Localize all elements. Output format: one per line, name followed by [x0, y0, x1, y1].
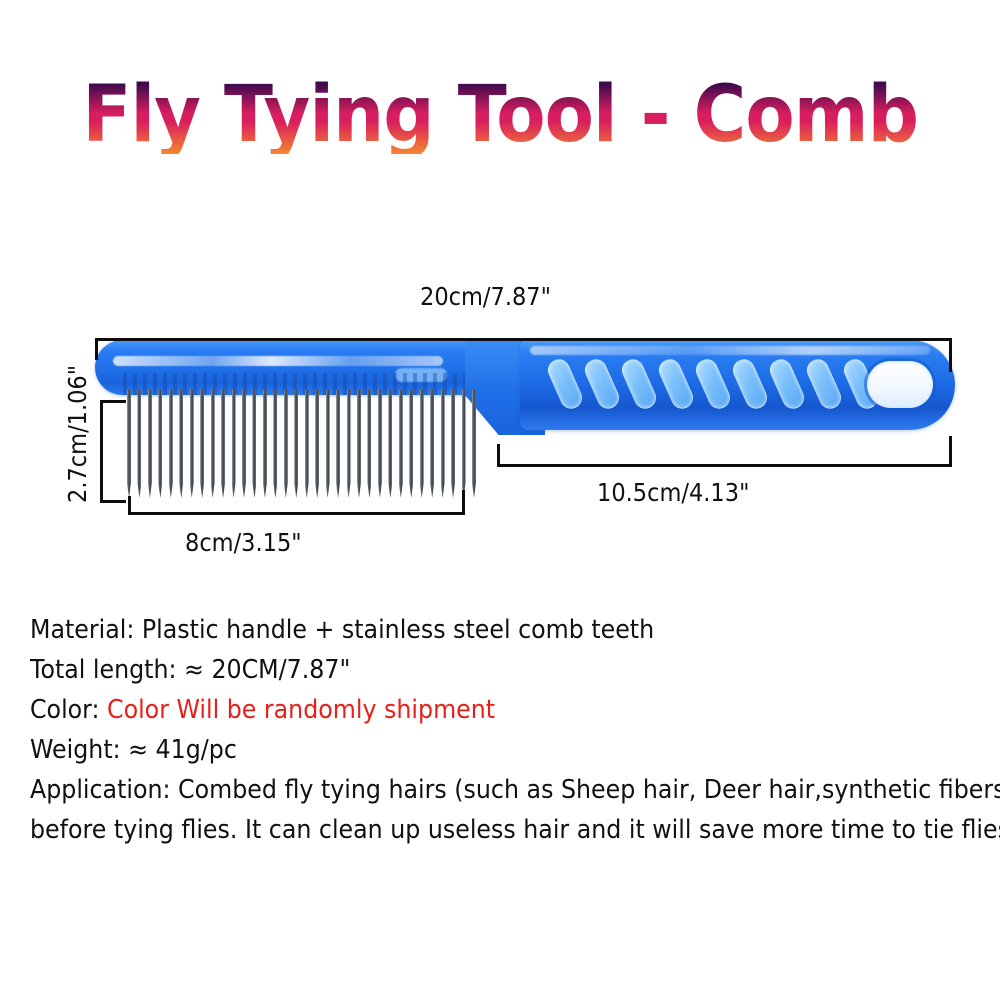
bracket-total-length-tick-right: [949, 338, 952, 372]
comb-tooth: [399, 390, 403, 498]
comb-tooth: [326, 390, 330, 498]
comb-tooth: [127, 390, 131, 498]
comb-handle-slot: [766, 356, 807, 412]
comb-tooth: [357, 390, 361, 498]
comb-tooth: [305, 390, 309, 498]
comb-tooth: [430, 390, 434, 498]
comb-tooth: [347, 390, 351, 498]
comb-head-highlight: [113, 356, 443, 366]
title-banner: Fly Tying Tool - Comb: [0, 60, 1000, 170]
comb-tooth: [441, 390, 445, 498]
page-title: Fly Tying Tool - Comb: [82, 76, 918, 154]
comb-tooth: [158, 390, 162, 498]
bracket-teeth-height: [100, 400, 103, 503]
dimension-label-handle-length: 10.5cm/4.13": [597, 478, 749, 507]
comb-handle-slot: [729, 356, 770, 412]
spec-color-label: Color:: [30, 695, 107, 725]
spec-application-line1: Application: Combed fly tying hairs (suc…: [30, 770, 923, 810]
comb-tooth: [367, 390, 371, 498]
spec-total-length: Total length: ≈ 20CM/7.87": [30, 650, 923, 690]
spec-application-line2: before tying flies. It can clean up usel…: [30, 810, 923, 850]
comb-tooth: [294, 390, 298, 498]
comb-tooth: [315, 390, 319, 498]
specification-list: Material: Plastic handle + stainless ste…: [30, 610, 990, 850]
comb-hanging-hole: [867, 361, 933, 408]
spec-material: Material: Plastic handle + stainless ste…: [30, 610, 923, 650]
product-infographic: Fly Tying Tool - Comb 20cm/7.87" 2.7cm/1…: [0, 0, 1000, 1000]
comb-handle-slot: [692, 356, 733, 412]
dimension-label-teeth-height: 2.7cm/1.06": [63, 365, 92, 503]
comb-handle-slot: [581, 356, 622, 412]
spec-color-value: Color Will be randomly shipment: [107, 695, 495, 725]
bracket-handle-length: [497, 464, 952, 467]
bracket-comb-head-width: [128, 512, 465, 515]
spec-color: Color: Color Will be randomly shipment: [30, 690, 923, 730]
comb-tooth: [336, 390, 340, 498]
comb-handle: [520, 340, 955, 430]
comb-steel-teeth: [95, 390, 495, 510]
bracket-teeth-height-tick-bottom: [100, 500, 126, 503]
bracket-comb-head-width-tick-left: [128, 496, 131, 515]
comb-tooth: [148, 390, 152, 498]
comb-tooth: [388, 390, 392, 498]
comb-tooth: [221, 390, 225, 498]
comb-tooth: [179, 390, 183, 498]
comb-tooth: [263, 390, 267, 498]
comb-tooth: [169, 390, 173, 498]
bracket-total-length: [95, 338, 952, 341]
comb-tooth: [252, 390, 256, 498]
comb-tooth: [451, 390, 455, 498]
comb-tooth: [378, 390, 382, 498]
comb-tooth: [190, 390, 194, 498]
comb-tooth: [200, 390, 204, 498]
comb-tooth: [409, 390, 413, 498]
comb-handle-slot: [544, 356, 585, 412]
bracket-comb-head-width-tick-right: [462, 490, 465, 515]
spec-weight: Weight: ≈ 41g/pc: [30, 730, 923, 770]
comb-head-spine: [95, 340, 480, 395]
comb-tooth: [472, 390, 476, 498]
dimension-label-comb-head-width: 8cm/3.15": [185, 528, 302, 557]
comb-tooth: [232, 390, 236, 498]
product-photo: 20cm/7.87" 2.7cm/1.06" 8cm/3.15" 10.5cm/…: [0, 250, 1000, 580]
bracket-total-length-tick-left: [95, 338, 98, 360]
comb-tooth: [211, 390, 215, 498]
comb-tooth: [420, 390, 424, 498]
comb-handle-highlight: [530, 346, 930, 355]
bracket-teeth-height-tick-top: [100, 400, 126, 403]
comb-tooth: [284, 390, 288, 498]
comb-handle-slot: [803, 356, 844, 412]
comb-handle-slot: [618, 356, 659, 412]
comb-tooth: [137, 390, 141, 498]
bracket-handle-length-tick-left: [497, 444, 500, 467]
comb-tooth: [273, 390, 277, 498]
bracket-handle-length-tick-right: [949, 436, 952, 467]
comb-tooth: [242, 390, 246, 498]
dimension-label-total-length: 20cm/7.87": [420, 282, 551, 311]
comb-tooth: [462, 390, 466, 498]
comb-handle-slot: [655, 356, 696, 412]
